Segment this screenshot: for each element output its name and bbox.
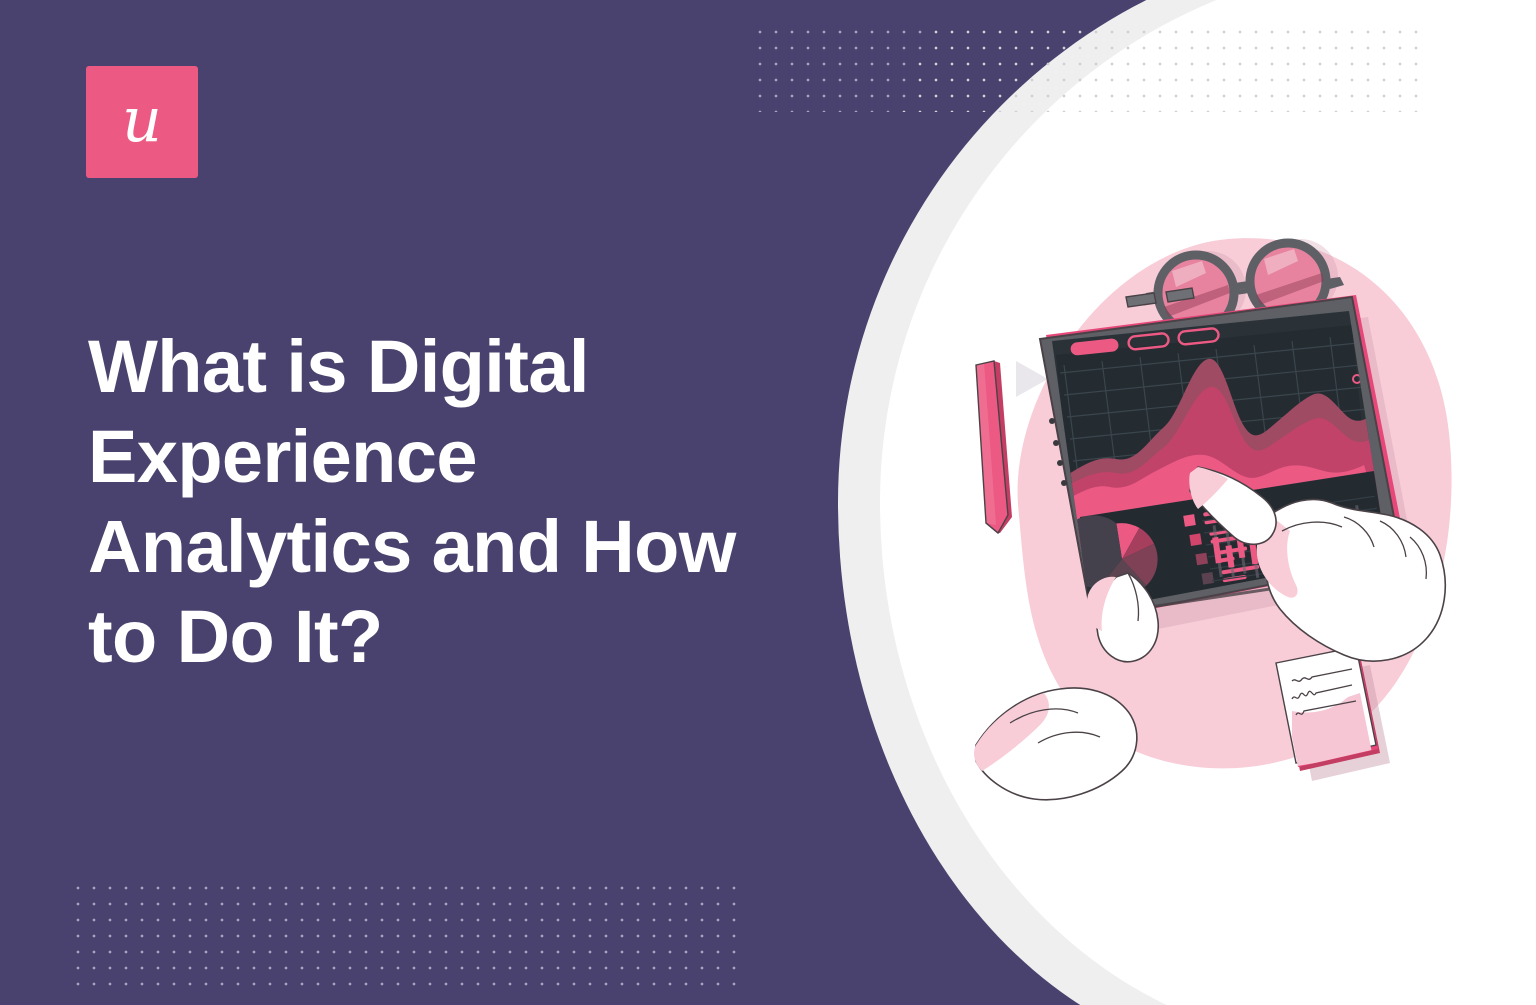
hero-illustration — [940, 215, 1480, 815]
logo-u-glyph: u — [122, 89, 162, 151]
poster-canvas: u What is Digital Experience Analytics a… — [0, 0, 1536, 1005]
stylus-pen — [976, 361, 1012, 533]
page-title: What is Digital Experience Analytics and… — [88, 322, 768, 682]
userpilot-logo[interactable]: u — [86, 66, 198, 178]
